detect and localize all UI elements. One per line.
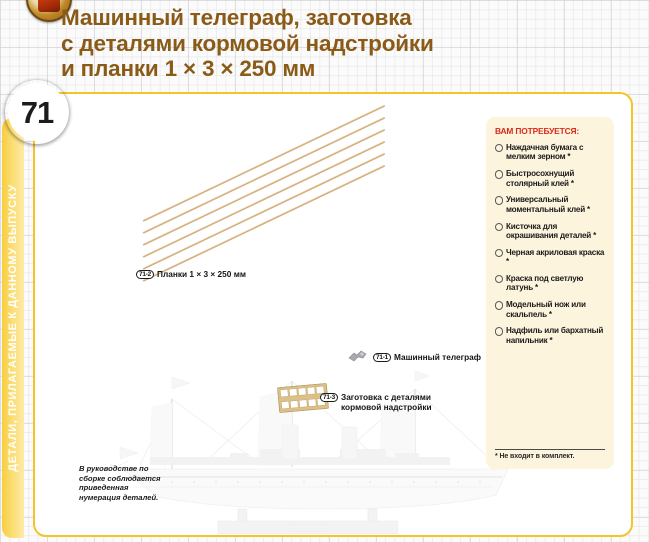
requirement-item[interactable]: Быстросохнущий столярный клей * xyxy=(495,169,606,188)
checkbox-icon[interactable] xyxy=(495,301,503,309)
requirement-item[interactable]: Черная акриловая краска * xyxy=(495,248,606,267)
checkbox-icon[interactable] xyxy=(495,327,503,335)
requirements-footnote: * Не входит в комплект. xyxy=(495,449,605,460)
page-title-line-3: и планки 1 × 3 × 250 мм xyxy=(61,56,491,82)
part-label-71-3: 71-3 Заготовка с деталями кормовой надст… xyxy=(320,393,440,412)
part-label-text: Машинный телеграф xyxy=(394,352,481,362)
checkbox-icon[interactable] xyxy=(495,249,503,257)
checkbox-icon[interactable] xyxy=(495,223,503,231)
part-label-line-1: Заготовка с деталями xyxy=(341,392,431,402)
part-label-text: Планки 1 × 3 × 250 мм xyxy=(157,269,246,279)
part-number-badge: 71-2 xyxy=(136,270,154,279)
side-tab-label: ДЕТАЛИ, ПРИЛАГАЕМЫЕ К ДАННОМУ ВЫПУСКУ xyxy=(7,184,19,471)
requirement-label: Черная акриловая краска * xyxy=(506,248,604,266)
part-number-badge: 71-3 xyxy=(320,393,338,402)
requirements-title: ВАМ ПОТРЕБУЕТСЯ: xyxy=(495,126,606,136)
part-number-badge: 71-1 xyxy=(373,353,391,362)
telegraph-part-illustration xyxy=(347,349,369,363)
requirement-item[interactable]: Наждачная бумага с мелким зерном * xyxy=(495,143,606,162)
wooden-strip xyxy=(142,129,385,247)
wooden-strip xyxy=(142,153,385,271)
checkbox-icon[interactable] xyxy=(495,170,503,178)
part-label-text: Заготовка с деталями кормовой надстройки xyxy=(341,393,432,412)
assembly-note: В руководстве по сборке соблюдается прив… xyxy=(79,464,171,502)
part-label-line-2: кормовой надстройки xyxy=(341,402,432,412)
requirement-label: Универсальный моментальный клей * xyxy=(506,195,590,213)
checkbox-icon[interactable] xyxy=(495,275,503,283)
requirement-label: Краска под светлую латунь * xyxy=(506,274,583,292)
part-label-71-2: 71-2 Планки 1 × 3 × 250 мм xyxy=(136,269,246,279)
requirement-item[interactable]: Универсальный моментальный клей * xyxy=(495,195,606,214)
requirement-item[interactable]: Краска под светлую латунь * xyxy=(495,274,606,293)
checkbox-icon[interactable] xyxy=(495,144,503,152)
issue-number-badge: 71 xyxy=(4,79,70,145)
requirement-item[interactable]: Кисточка для окрашивания деталей * xyxy=(495,222,606,241)
requirement-item[interactable]: Модельный нож или скальпель * xyxy=(495,300,606,319)
page-title-line-2: с деталями кормовой надстройки xyxy=(61,31,491,57)
side-tab: ДЕТАЛИ, ПРИЛАГАЕМЫЕ К ДАННОМУ ВЫПУСКУ xyxy=(2,118,24,538)
wooden-strip xyxy=(142,117,385,235)
wooden-strip xyxy=(142,165,385,283)
wooden-strips-illustration xyxy=(153,216,403,351)
issue-number-value: 71 xyxy=(21,97,53,128)
requirement-label: Кисточка для окрашивания деталей * xyxy=(506,222,596,240)
page-title: Машинный телеграф, заготовка с деталями … xyxy=(61,5,491,82)
requirement-item[interactable]: Надфиль или бархатный напильник * xyxy=(495,326,606,345)
wooden-strip xyxy=(142,105,385,223)
requirement-label: Наждачная бумага с мелким зерном * xyxy=(506,143,583,161)
part-label-71-1: 71-1 Машинный телеграф xyxy=(373,352,481,362)
page-title-line-1: Машинный телеграф, заготовка xyxy=(61,5,491,31)
wooden-strip xyxy=(142,141,385,259)
checkbox-icon[interactable] xyxy=(495,196,503,204)
requirement-label: Надфиль или бархатный напильник * xyxy=(506,326,603,344)
requirements-card: ВАМ ПОТРЕБУЕТСЯ: Наждачная бумага с мелк… xyxy=(486,117,614,469)
requirement-label: Быстросохнущий столярный клей * xyxy=(506,169,574,187)
main-panel: 71-2 Планки 1 × 3 × 250 мм 71-1 Машинный… xyxy=(33,92,633,537)
requirement-label: Модельный нож или скальпель * xyxy=(506,300,586,318)
